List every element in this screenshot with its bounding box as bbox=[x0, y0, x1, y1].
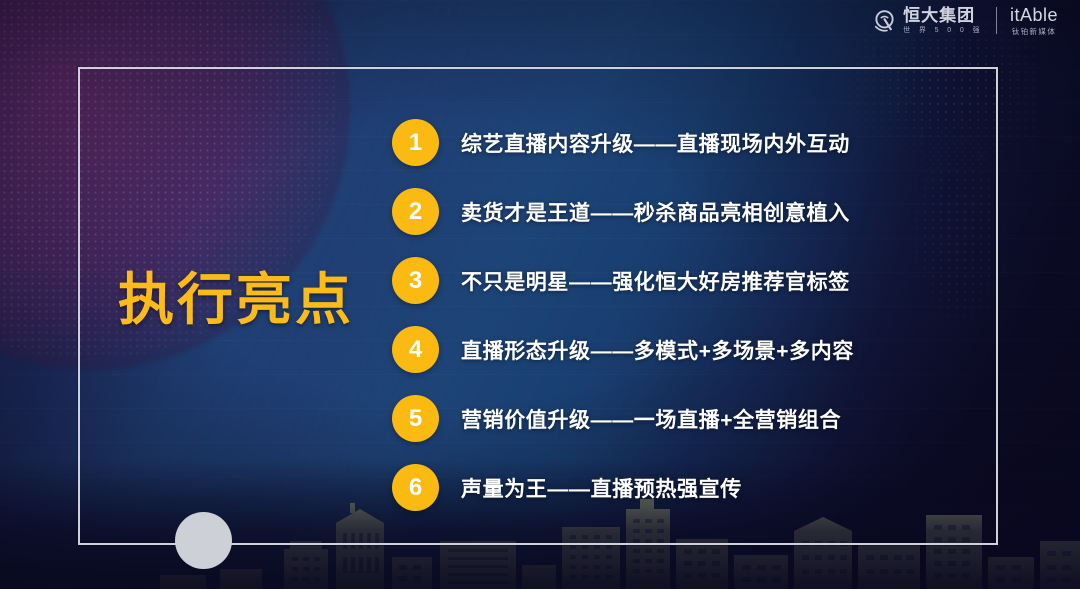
list-item-number-badge: 5 bbox=[392, 395, 439, 442]
evergrande-logo-text: 恒大集团 世 界 5 0 0 强 bbox=[903, 7, 983, 34]
list-item: 3 不只是明星——强化恒大好房推荐官标签 bbox=[392, 246, 952, 315]
list-item-label: 声量为王——直播预热强宣传 bbox=[461, 473, 742, 503]
list-item: 6 声量为王——直播预热强宣传 bbox=[392, 453, 952, 522]
list-item-label: 卖货才是王道——秒杀商品亮相创意植入 bbox=[461, 197, 850, 227]
page-title: 执行亮点 bbox=[118, 272, 354, 328]
list-item-label: 综艺直播内容升级——直播现场内外互动 bbox=[461, 128, 850, 158]
evergrande-logo: 恒大集团 世 界 5 0 0 强 bbox=[872, 7, 983, 34]
gray-circle-decor bbox=[175, 512, 232, 569]
logo-divider bbox=[996, 7, 997, 34]
evergrande-name: 恒大集团 bbox=[903, 7, 975, 24]
list-item-number-badge: 4 bbox=[392, 326, 439, 373]
itable-logo: itAble 钛铂新媒体 bbox=[1010, 6, 1058, 36]
list-item-label: 直播形态升级——多模式+多场景+多内容 bbox=[461, 335, 854, 365]
itable-name-cn: 钛铂新媒体 bbox=[1012, 28, 1057, 36]
evergrande-subtitle: 世 界 5 0 0 强 bbox=[903, 27, 983, 34]
list-item: 5 营销价值升级——一场直播+全营销组合 bbox=[392, 384, 952, 453]
highlights-list: 1 综艺直播内容升级——直播现场内外互动 2 卖货才是王道——秒杀商品亮相创意植… bbox=[392, 108, 952, 522]
list-item-number-badge: 3 bbox=[392, 257, 439, 304]
list-item-number-badge: 1 bbox=[392, 119, 439, 166]
list-item-number-badge: 2 bbox=[392, 188, 439, 235]
header-logo-group: 恒大集团 世 界 5 0 0 强 itAble 钛铂新媒体 bbox=[872, 6, 1058, 36]
list-item: 4 直播形态升级——多模式+多场景+多内容 bbox=[392, 315, 952, 384]
itable-name-en: itAble bbox=[1010, 6, 1058, 24]
list-item: 1 综艺直播内容升级——直播现场内外互动 bbox=[392, 108, 952, 177]
list-item: 2 卖货才是王道——秒杀商品亮相创意植入 bbox=[392, 177, 952, 246]
list-item-number-badge: 6 bbox=[392, 464, 439, 511]
list-item-label: 不只是明星——强化恒大好房推荐官标签 bbox=[461, 266, 850, 296]
list-item-label: 营销价值升级——一场直播+全营销组合 bbox=[461, 404, 841, 434]
slide-canvas: 恒大集团 世 界 5 0 0 强 itAble 钛铂新媒体 执行亮点 1 综艺直… bbox=[0, 0, 1080, 589]
evergrande-mark-icon bbox=[872, 8, 897, 33]
